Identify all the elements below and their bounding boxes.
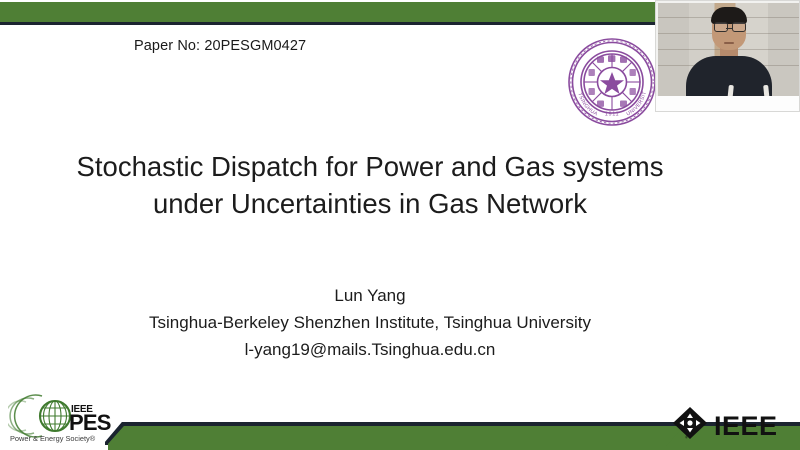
svg-text:®: ® [685, 434, 688, 439]
svg-text:UNIVERSITY: UNIVERSITY [566, 36, 648, 118]
svg-text:Power & Energy Society®: Power & Energy Society® [10, 434, 96, 443]
webcam-video-feed [658, 3, 799, 96]
title-line-1: Stochastic Dispatch for Power and Gas sy… [60, 148, 680, 185]
tsinghua-university-seal-icon: TSINGHUA UNIVERSITY 1911 [566, 36, 658, 128]
ieee-logo: ® IEEE [672, 406, 794, 440]
presenter-torso [686, 56, 772, 96]
author-email: l-yang19@mails.Tsinghua.edu.cn [60, 336, 680, 363]
author-block: Lun Yang Tsinghua-Berkeley Shenzhen Inst… [60, 282, 680, 363]
title-line-2: under Uncertainties in Gas Network [60, 185, 680, 222]
presenter-collar-left [727, 85, 734, 96]
ieee-pes-logo: IEEE PES Power & Energy Society® [8, 388, 134, 444]
presenter-glasses-right [732, 22, 746, 32]
presenter-webcam-overlay[interactable] [655, 0, 800, 112]
author-name: Lun Yang [60, 282, 680, 309]
svg-text:PES: PES [69, 410, 111, 435]
presenter-mouth [724, 42, 734, 44]
webcam-bottom-strip [656, 96, 799, 111]
presenter-glasses-bridge [726, 28, 732, 29]
slide-title: Stochastic Dispatch for Power and Gas sy… [60, 148, 680, 222]
author-affiliation: Tsinghua-Berkeley Shenzhen Institute, Ts… [60, 309, 680, 336]
paper-number: Paper No: 20PESGM0427 [134, 38, 306, 54]
presenter-collar-right [763, 85, 770, 96]
presentation-slide: Paper No: 20PESGM0427 [0, 0, 800, 450]
svg-text:1911: 1911 [605, 112, 619, 118]
svg-text:IEEE: IEEE [714, 411, 778, 440]
